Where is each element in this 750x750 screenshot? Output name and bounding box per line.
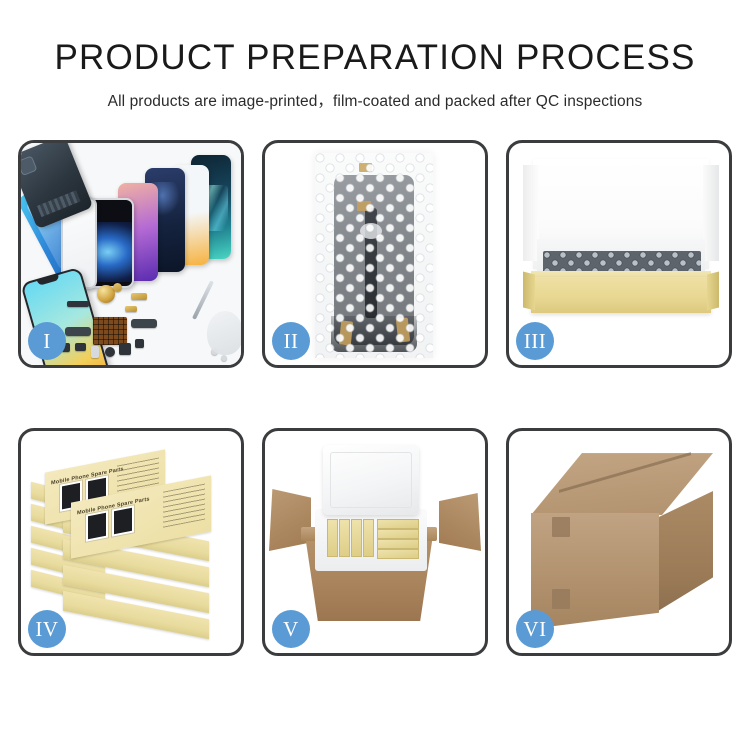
step-badge-2: II [272, 322, 310, 360]
step-panel-1[interactable]: I [18, 140, 244, 368]
step-badge-1: I [28, 322, 66, 360]
step-panel-4[interactable]: Mobile Phone Spare Parts Mobile Phone Sp… [18, 428, 244, 656]
header: PRODUCT PREPARATION PROCESS All products… [0, 0, 750, 111]
product-preparation-infographic: PRODUCT PREPARATION PROCESS All products… [0, 0, 750, 750]
step-badge-4: IV [28, 610, 66, 648]
step-panel-2[interactable]: II [262, 140, 488, 368]
step-badge-3: III [516, 322, 554, 360]
page-subtitle: All products are image-printed，film-coat… [0, 89, 750, 111]
step-badge-6: VI [516, 610, 554, 648]
steps-grid: I II [18, 140, 732, 656]
page-title: PRODUCT PREPARATION PROCESS [0, 40, 750, 75]
step-panel-3[interactable]: III [506, 140, 732, 368]
step-panel-6[interactable]: VI [506, 428, 732, 656]
step-badge-5: V [272, 610, 310, 648]
step-panel-5[interactable]: V [262, 428, 488, 656]
